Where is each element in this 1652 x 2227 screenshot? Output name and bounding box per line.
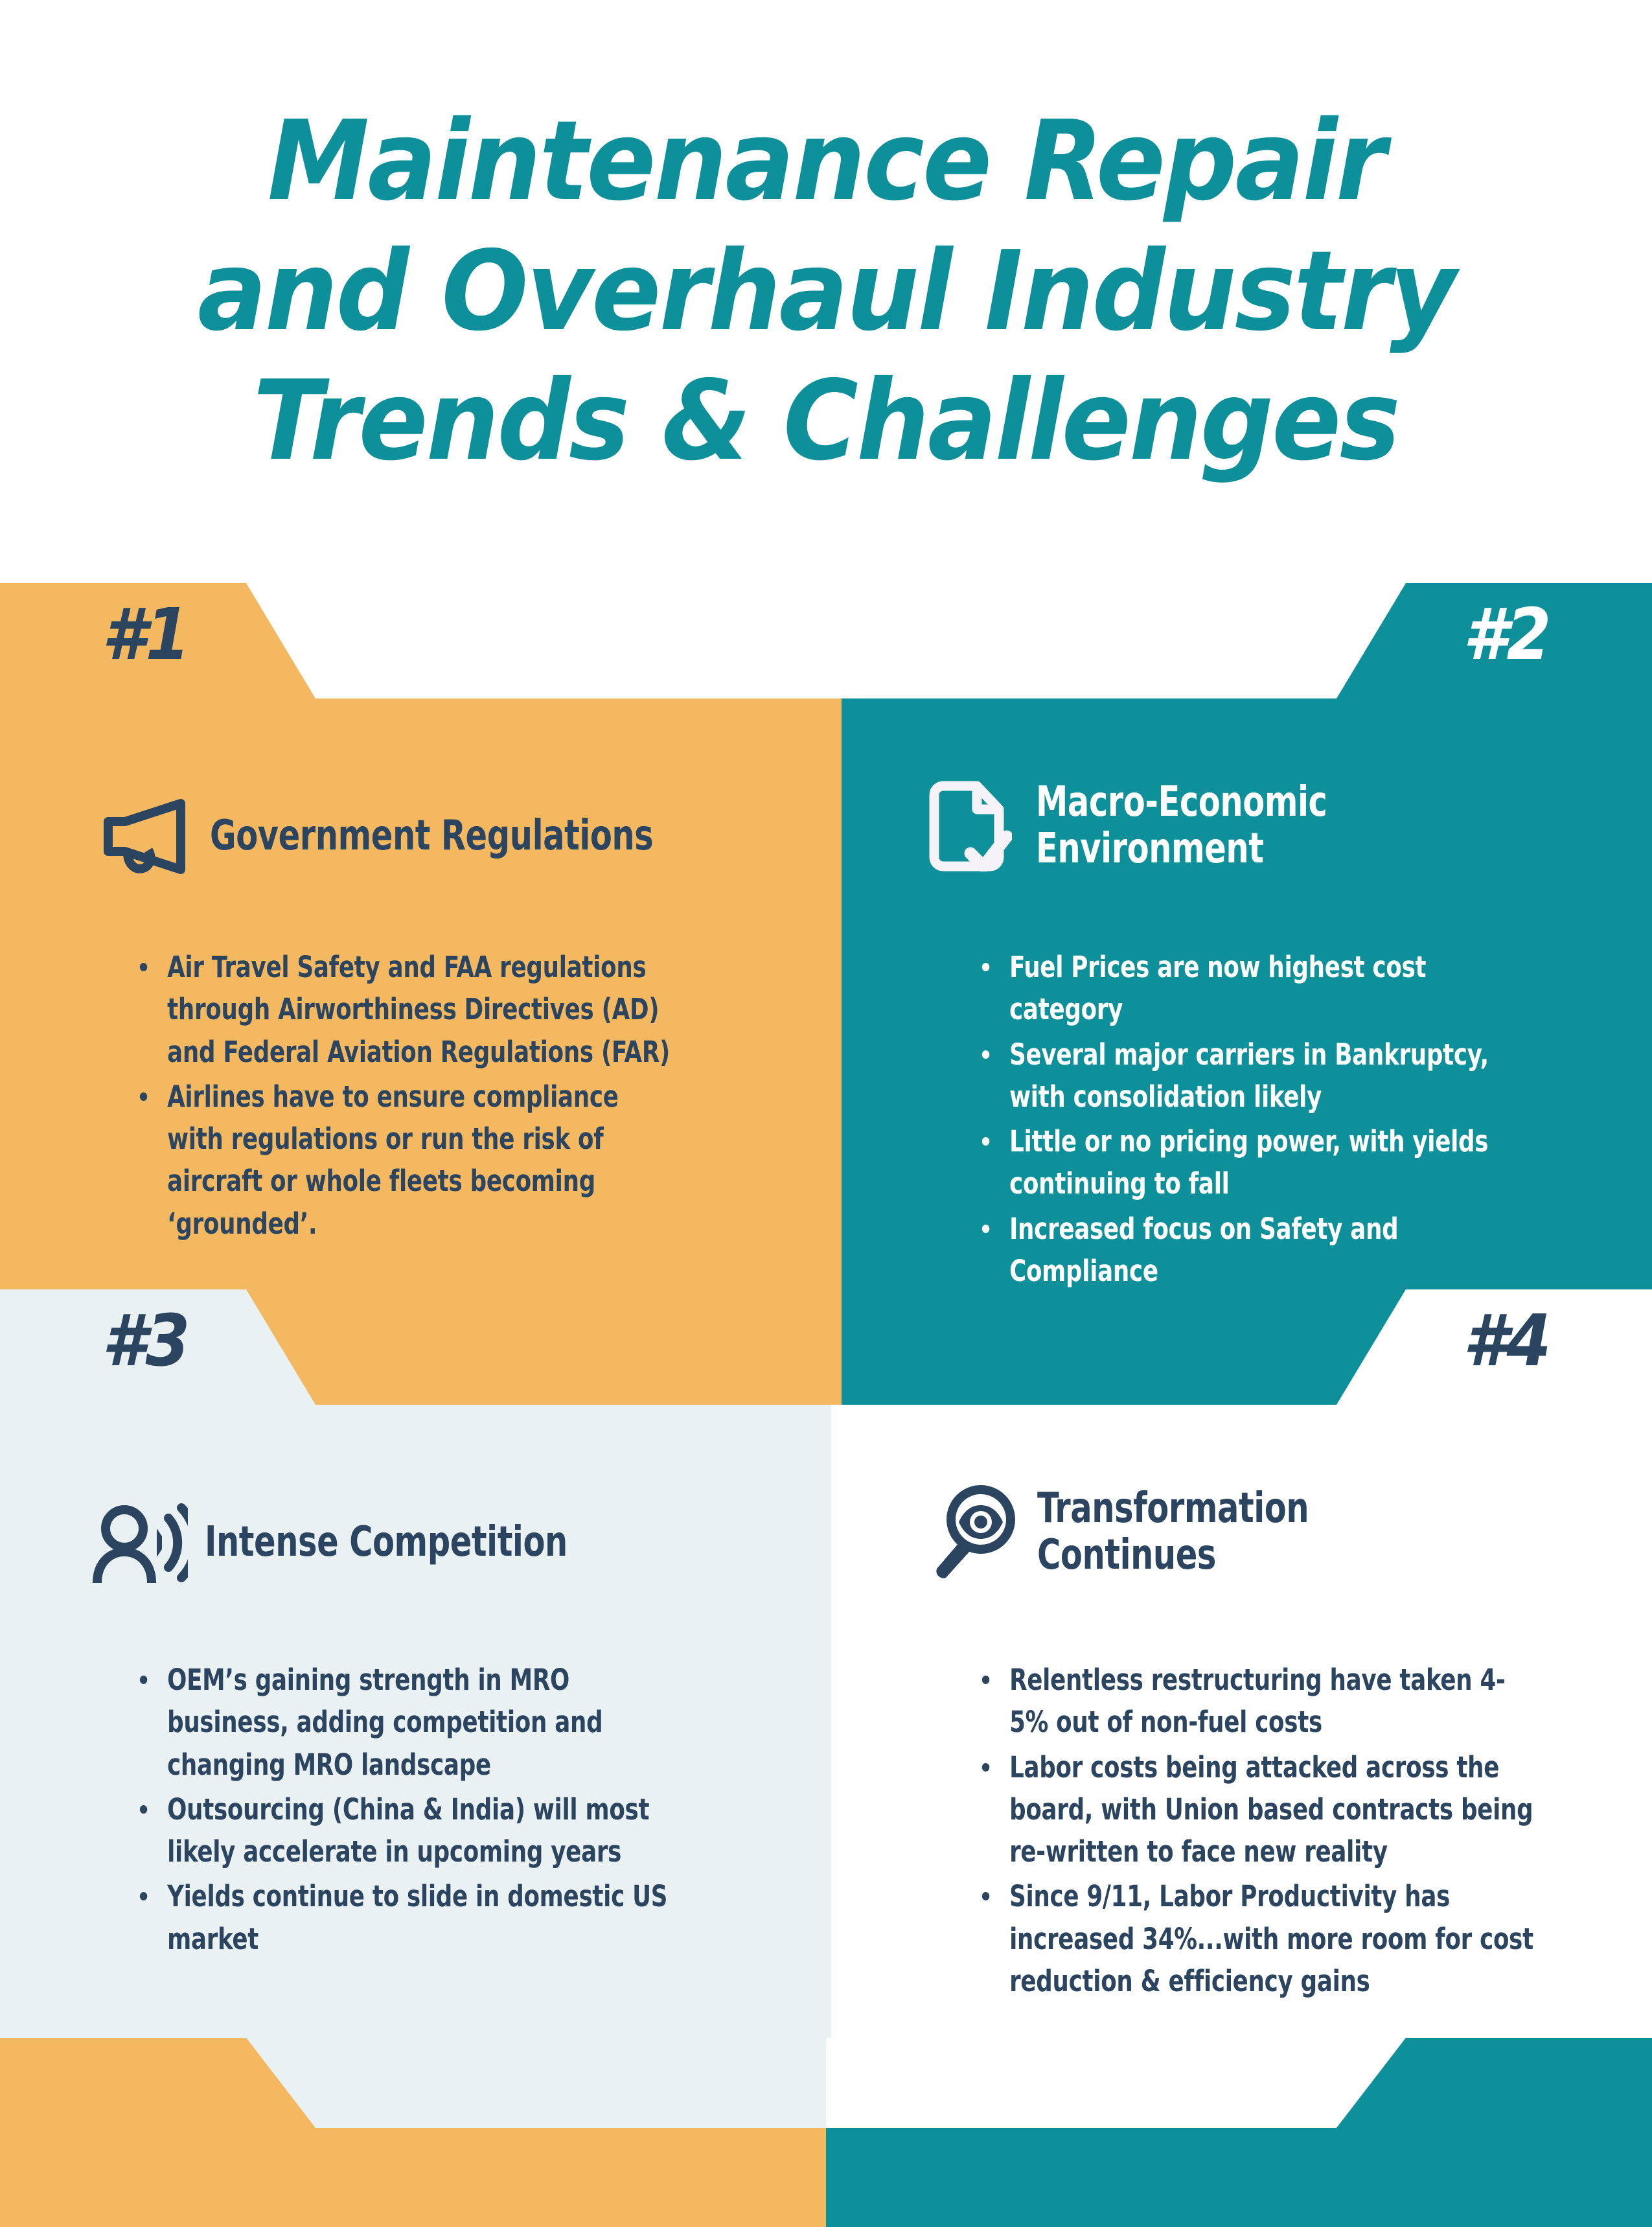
panel-government-regulations: #1 Government Regulations Air Travel Saf… — [0, 583, 826, 1289]
list-item: Relentless restructuring have taken 4-5%… — [972, 1659, 1542, 1744]
panel-grid: #1 Government Regulations Air Travel Saf… — [0, 583, 1652, 2038]
panel-2-bullet-list: Fuel Prices are now highest cost categor… — [972, 946, 1620, 1295]
list-item: Fuel Prices are now highest cost categor… — [972, 946, 1542, 1031]
list-item: Since 9/11, Labor Productivity has incre… — [972, 1875, 1542, 2002]
list-item: OEM’s gaining strength in MRO business, … — [130, 1659, 680, 1786]
list-item: Air Travel Safety and FAA regulations th… — [130, 946, 680, 1073]
magnifier-eye-icon — [923, 1484, 1020, 1581]
panel-3-bullet-list: OEM’s gaining strength in MRO business, … — [130, 1659, 755, 1963]
panel-4-badge: #4 — [1463, 1305, 1550, 1376]
panel-3-header: Intense Competition — [91, 1494, 626, 1591]
list-item: Several major carriers in Bankruptcy, wi… — [972, 1033, 1542, 1118]
person-soundwave-icon — [91, 1494, 188, 1591]
bottom-decoration-band — [0, 2038, 1652, 2227]
list-item: Airlines have to ensure compliance with … — [130, 1076, 680, 1245]
panel-1-badge: #1 — [102, 599, 189, 670]
panel-1-bullet-list: Air Travel Safety and FAA regulations th… — [130, 946, 755, 1247]
panel-2-badge: #2 — [1463, 599, 1550, 670]
panel-4-title: Transformation Continues — [1037, 1486, 1309, 1578]
title-line-1: Maintenance Repair — [268, 97, 1384, 227]
panel-2-header: Macro-Economic Environment — [922, 778, 1375, 875]
document-check-icon — [922, 778, 1019, 875]
page-title: Maintenance Repair and Overhaul Industry… — [0, 0, 1652, 583]
list-item: Labor costs being attacked across the bo… — [972, 1746, 1542, 1873]
panel-2-title: Macro-Economic Environment — [1036, 779, 1327, 872]
list-item: Yields continue to slide in domestic US … — [130, 1875, 680, 1960]
panel-3-badge: #3 — [102, 1305, 189, 1376]
list-item: Outsourcing (China & India) will most li… — [130, 1788, 680, 1873]
panel-4-bullet-list: Relentless restructuring have taken 4-5%… — [972, 1659, 1620, 2005]
title-line-3: Trends & Challenges — [253, 356, 1399, 487]
panel-4-left-accent-strip — [826, 1289, 842, 1405]
panel-2-left-accent-strip — [826, 698, 842, 1289]
panel-4-header: Transformation Continues — [923, 1484, 1353, 1581]
megaphone-icon — [96, 788, 193, 885]
panel-4-left-divider — [826, 1405, 831, 2038]
list-item: Increased focus on Safety and Compliance — [972, 1208, 1542, 1293]
panel-3-title: Intense Competition — [205, 1519, 568, 1566]
panel-1-title: Government Regulations — [210, 813, 653, 860]
title-line-2: and Overhaul Industry — [198, 227, 1454, 357]
panel-1-header: Government Regulations — [96, 788, 726, 885]
list-item: Little or no pricing power, with yields … — [972, 1120, 1542, 1205]
